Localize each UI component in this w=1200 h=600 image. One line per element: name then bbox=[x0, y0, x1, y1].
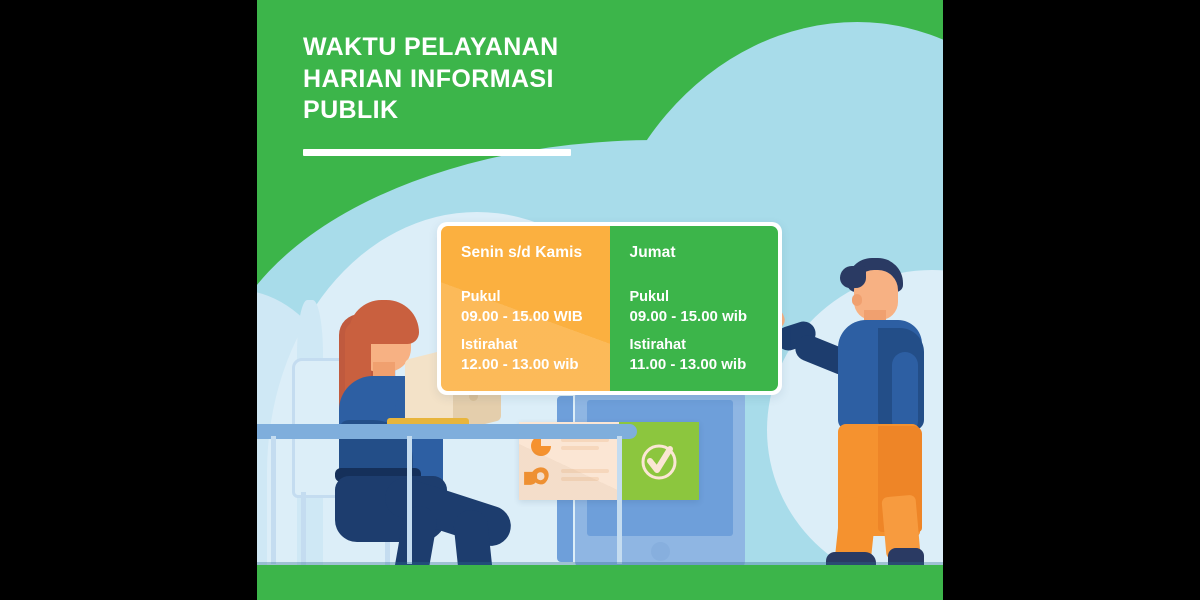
schedule-hours-block: Pukul 09.00 - 15.00 wib bbox=[630, 288, 779, 327]
schedule-break-block: Istirahat 12.00 - 13.00 wib bbox=[461, 336, 610, 375]
schedule-hours-label: Pukul bbox=[461, 288, 610, 307]
man-ear bbox=[852, 294, 862, 306]
schedule-day-label: Senin s/d Kamis bbox=[461, 244, 610, 262]
schedule-day-label: Jumat bbox=[630, 244, 779, 262]
schedule-break-block: Istirahat 11.00 - 13.00 wib bbox=[630, 336, 779, 375]
schedule-break-label: Istirahat bbox=[630, 336, 779, 355]
schedule-hours-value: 09.00 - 15.00 wib bbox=[630, 307, 779, 327]
schedule-break-value: 11.00 - 13.00 wib bbox=[630, 355, 779, 375]
poster-stage: WAKTU PELAYANAN HARIAN INFORMASI PUBLIK bbox=[0, 0, 1200, 600]
desk-surface bbox=[257, 424, 637, 439]
man-arm-right bbox=[892, 352, 918, 434]
desk-leg bbox=[271, 436, 276, 564]
title-line-3: PUBLIK bbox=[303, 95, 723, 127]
page-title: WAKTU PELAYANAN HARIAN INFORMASI PUBLIK bbox=[303, 32, 723, 156]
schedule-break-label: Istirahat bbox=[461, 336, 610, 355]
title-underline-rule bbox=[303, 149, 571, 156]
schedule-card: Senin s/d Kamis Pukul 09.00 - 15.00 WIB … bbox=[437, 222, 782, 395]
standing-man-illustration bbox=[802, 258, 943, 570]
check-circle-icon bbox=[636, 438, 682, 484]
man-hair-fringe bbox=[840, 266, 866, 288]
schedule-break-value: 12.00 - 13.00 wib bbox=[461, 355, 610, 375]
schedule-hours-value: 09.00 - 15.00 WIB bbox=[461, 307, 610, 327]
schedule-hours-label: Pukul bbox=[630, 288, 779, 307]
floor-strip bbox=[257, 565, 943, 600]
desk-leg bbox=[407, 436, 412, 564]
schedule-hours-block: Pukul 09.00 - 15.00 WIB bbox=[461, 288, 610, 327]
info-text-line bbox=[561, 477, 599, 481]
tablet-home-button[interactable] bbox=[651, 542, 670, 561]
poster-canvas: WAKTU PELAYANAN HARIAN INFORMASI PUBLIK bbox=[257, 0, 943, 600]
info-text-line bbox=[561, 469, 609, 473]
info-text-line bbox=[561, 446, 599, 450]
title-line-1: WAKTU PELAYANAN bbox=[303, 32, 723, 64]
title-heading: WAKTU PELAYANAN HARIAN INFORMASI PUBLIK bbox=[303, 32, 723, 127]
desk-leg bbox=[617, 436, 622, 564]
schedule-column-friday: Jumat Pukul 09.00 - 15.00 wib Istirahat … bbox=[610, 226, 779, 391]
schedule-column-weekday: Senin s/d Kamis Pukul 09.00 - 15.00 WIB … bbox=[441, 226, 610, 391]
title-line-2: HARIAN INFORMASI bbox=[303, 64, 723, 96]
